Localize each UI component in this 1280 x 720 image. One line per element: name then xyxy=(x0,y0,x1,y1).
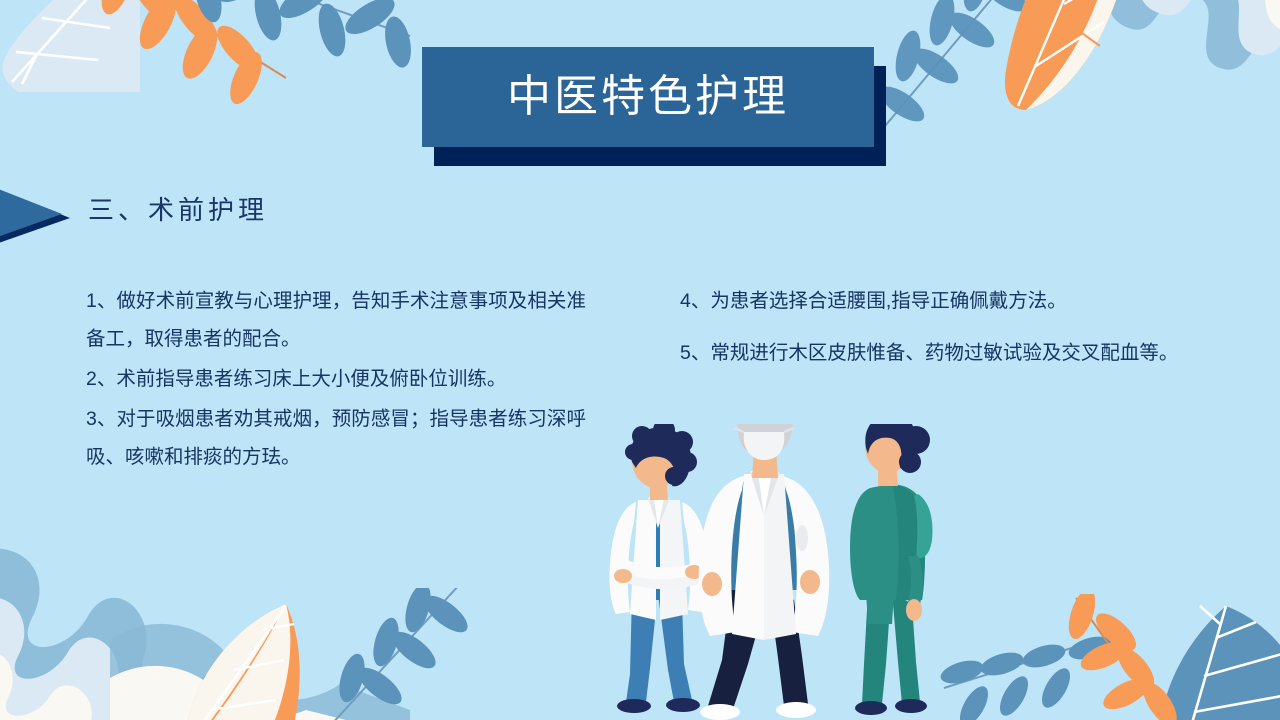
title-banner: 中医特色护理 xyxy=(422,47,874,147)
medical-staff-illustration xyxy=(586,424,996,720)
list-item: 2、术前指导患者练习床上大小便及俯卧位训练。 xyxy=(86,360,586,398)
decor-wave-swirl-top-right xyxy=(1058,0,1280,180)
decor-orange-leaf-bottom-left xyxy=(168,600,308,720)
decor-wave-swirl-bottom-left xyxy=(0,546,230,720)
list-item: 5、常规进行木区皮肤惟备、药物过敏试验及交叉配血等。 xyxy=(680,334,1192,372)
page-title: 中医特色护理 xyxy=(507,75,789,119)
title-banner-face: 中医特色护理 xyxy=(422,47,874,147)
figure-doctor-center xyxy=(699,424,830,720)
arrow-right-icon xyxy=(0,170,70,260)
list-item: 4、为患者选择合适腰围,指导正确佩戴方法。 xyxy=(680,282,1192,320)
slide-canvas: 中医特色护理 三、术前护理 1、做好术前宣教与心理护理，告知手术注意事项及相关准… xyxy=(0,0,1280,720)
content-column-left: 1、做好术前宣教与心理护理，告知手术注意事项及相关准备工，取得患者的配合。 2、… xyxy=(86,282,586,478)
decor-blue-leaf-bottom-right xyxy=(1160,580,1280,720)
figure-nurse-right xyxy=(850,424,932,715)
decor-orange-branch-bottom-right xyxy=(1042,594,1202,720)
figure-doctor-left xyxy=(609,424,708,713)
list-item: 1、做好术前宣教与心理护理，告知手术注意事项及相关准备工，取得患者的配合。 xyxy=(86,282,586,358)
content-column-right: 4、为患者选择合适腰围,指导正确佩戴方法。 5、常规进行木区皮肤惟备、药物过敏试… xyxy=(680,282,1192,386)
section-heading: 三、术前护理 xyxy=(0,170,480,260)
decor-blue-branch-bottom-left xyxy=(300,588,470,720)
decor-pale-leaf-top-left xyxy=(0,0,150,140)
section-arrow xyxy=(0,170,70,260)
decor-orange-branch-top-left xyxy=(96,0,336,120)
decor-orange-cream-leaf-top-right xyxy=(968,0,1168,140)
decor-wave-swirl-bottom-left-2 xyxy=(110,600,410,720)
list-item: 3、对于吸烟患者劝其戒烟，预防感冒；指导患者练习深呼吸、咳嗽和排痰的方珐。 xyxy=(86,400,586,476)
section-heading-text: 三、术前护理 xyxy=(88,190,268,227)
decor-blue-branch-top-left xyxy=(150,0,450,110)
